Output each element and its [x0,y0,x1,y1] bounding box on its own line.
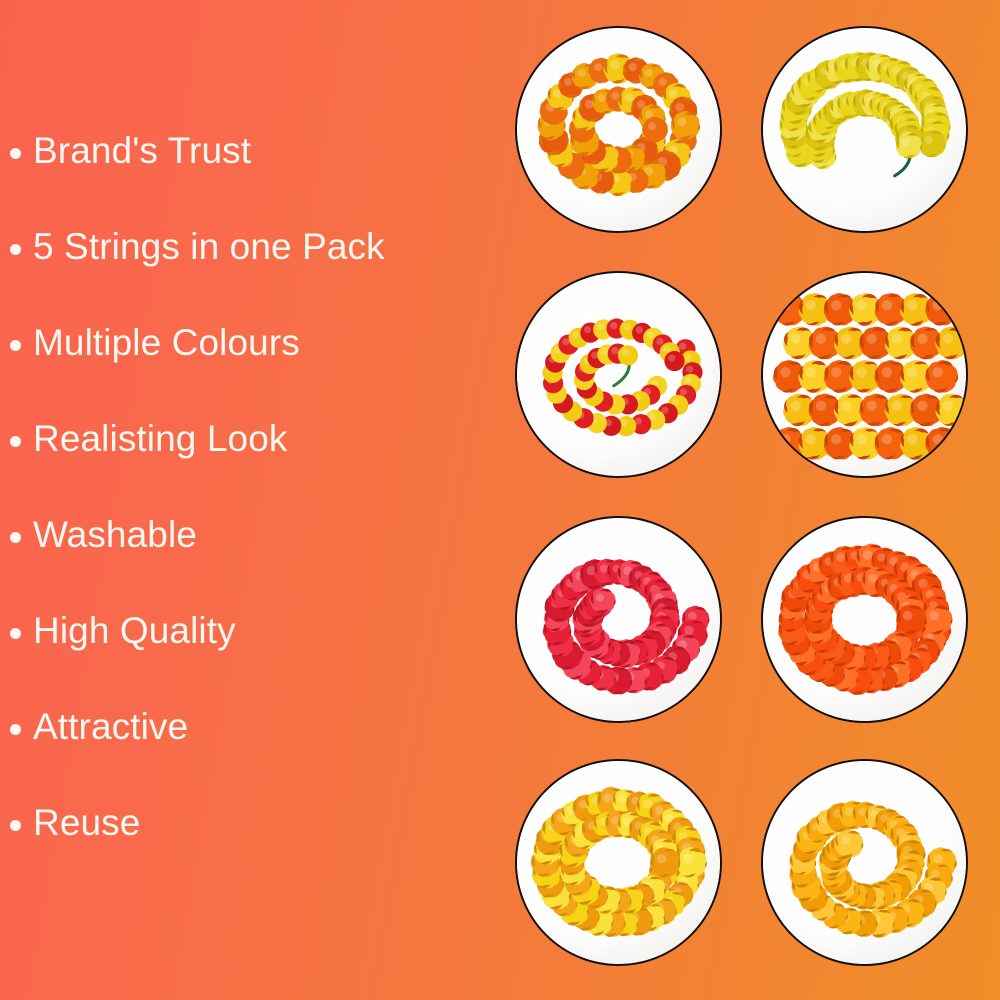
feature-label: Reuse [33,800,140,846]
product-photo-marigold-yellow [761,26,968,233]
feature-label: Brand's Trust [33,128,251,174]
feature-item-high-quality: High Quality [0,608,500,704]
bullet-point-icon [10,820,21,831]
garland-illustration [763,761,966,964]
product-photo-marigold-orange [761,516,968,723]
garland-illustration [763,273,966,476]
feature-item-reuse: Reuse [0,800,500,896]
feature-item-multiple-colours: Multiple Colours [0,320,500,416]
bullet-point-icon [10,148,21,159]
product-photo-marigold-orange-yellow-dense [761,271,968,478]
feature-label: Attractive [33,704,188,750]
feature-label: Multiple Colours [33,320,300,366]
product-photo-marigold-yellow-golden-mixed [515,759,722,966]
feature-label: High Quality [33,608,236,654]
feature-label: Realisting Look [33,416,287,462]
garland-illustration [517,518,720,721]
feature-label: 5 Strings in one Pack [33,224,385,270]
feature-list: Brand's Trust 5 Strings in one Pack Mult… [0,128,500,896]
garland-illustration [763,518,966,721]
feature-item-realistic-look: Realisting Look [0,416,500,512]
product-image-grid [515,26,995,986]
bullet-point-icon [10,532,21,543]
feature-item-brands-trust: Brand's Trust [0,128,500,224]
bullet-point-icon [10,436,21,447]
feature-item-strings-per-pack: 5 Strings in one Pack [0,224,500,320]
bullet-point-icon [10,244,21,255]
garland-illustration [517,28,720,231]
bullet-point-icon [10,724,21,735]
bullet-point-icon [10,628,21,639]
product-photo-marigold-orange-yellow-mixed [515,26,722,233]
feature-item-attractive: Attractive [0,704,500,800]
garland-illustration [517,761,720,964]
garland-illustration [517,273,720,476]
bullet-point-icon [10,340,21,351]
product-feature-poster: Brand's Trust 5 Strings in one Pack Mult… [0,0,1000,1000]
product-photo-pompom-red-yellow [515,271,722,478]
feature-label: Washable [33,512,197,558]
product-photo-marigold-pink-red [515,516,722,723]
feature-item-washable: Washable [0,512,500,608]
garland-illustration [763,28,966,231]
product-photo-marigold-golden-yellow [761,759,968,966]
